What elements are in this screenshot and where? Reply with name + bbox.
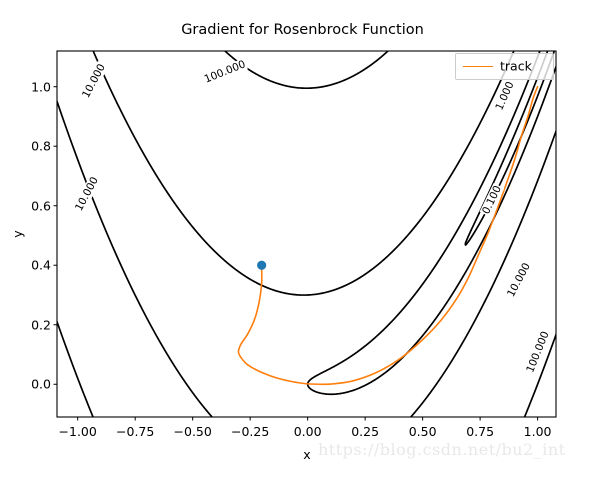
x-tick-label: 0.50 [409,424,437,439]
matplotlib-figure: Gradient for Rosenbrock Function −1.00−0… [0,0,605,477]
y-tick-label: 0.8 [23,139,51,154]
x-tick-label: 1.00 [524,424,552,439]
x-axis-label: x [303,447,310,462]
x-tick-label: −0.75 [116,424,154,439]
y-tick-label: 1.0 [23,79,51,94]
watermark-text: https://blog.csdn.net/bu2_int [318,440,566,459]
y-tick-label: 0.2 [23,317,51,332]
x-tick-label: −0.50 [174,424,212,439]
track-path [238,87,537,385]
x-tick-label: −1.00 [59,424,97,439]
axis-ticks [54,87,538,421]
x-tick-label: 0.00 [294,424,322,439]
start-point-marker [257,261,266,270]
x-tick-label: 0.75 [466,424,494,439]
legend-label-track: track [500,59,532,74]
axes-frame [57,51,556,417]
y-tick-label: 0.6 [23,198,51,213]
y-tick-label: 0.4 [23,258,51,273]
x-tick-label: 0.25 [351,424,379,439]
y-axis-label: y [10,230,25,237]
y-tick-label: 0.0 [23,377,51,392]
x-tick-label: −0.25 [231,424,269,439]
legend-line-swatch-track [463,66,493,67]
